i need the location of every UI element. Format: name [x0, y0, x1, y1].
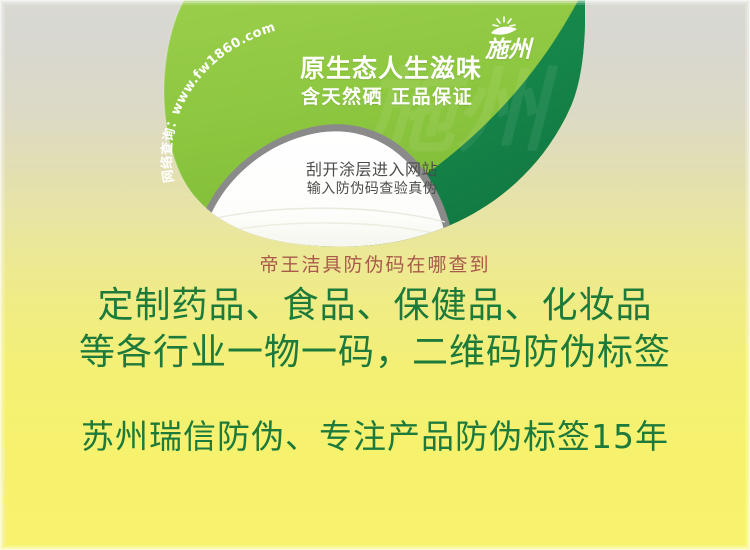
brand-name: 施州 — [485, 30, 531, 64]
scratch-instruction-line-1: 刮开涂层进入网站 — [217, 160, 527, 180]
brand-logo: 施州 — [477, 16, 563, 68]
scratch-instruction-line-2: 输入防伪码查验真伪 — [217, 180, 527, 198]
website-arc-label: 网络查询：www.fw1860.com — [159, 20, 278, 184]
promo-banner: 施州 网络查询：www.fw1860.com — [0, 0, 750, 550]
leaf-slogan-main: 原生态人生滋味 — [300, 56, 482, 82]
promo-line-2: 等各行业一物一码，二维码防伪标签 — [0, 323, 750, 375]
leaf-slogan-sub: 含天然硒 正品保证 — [301, 88, 473, 108]
scratch-instructions: 刮开涂层进入网站 输入防伪码查验真伪 — [217, 160, 527, 198]
headline-brand-query: 帝王洁具防伪码在哪查到 — [0, 250, 750, 277]
promo-line-1: 定制药品、食品、保健品、化妆品 — [0, 276, 750, 328]
company-tagline: 苏州瑞信防伪、专注产品防伪标签15年 — [0, 410, 750, 458]
